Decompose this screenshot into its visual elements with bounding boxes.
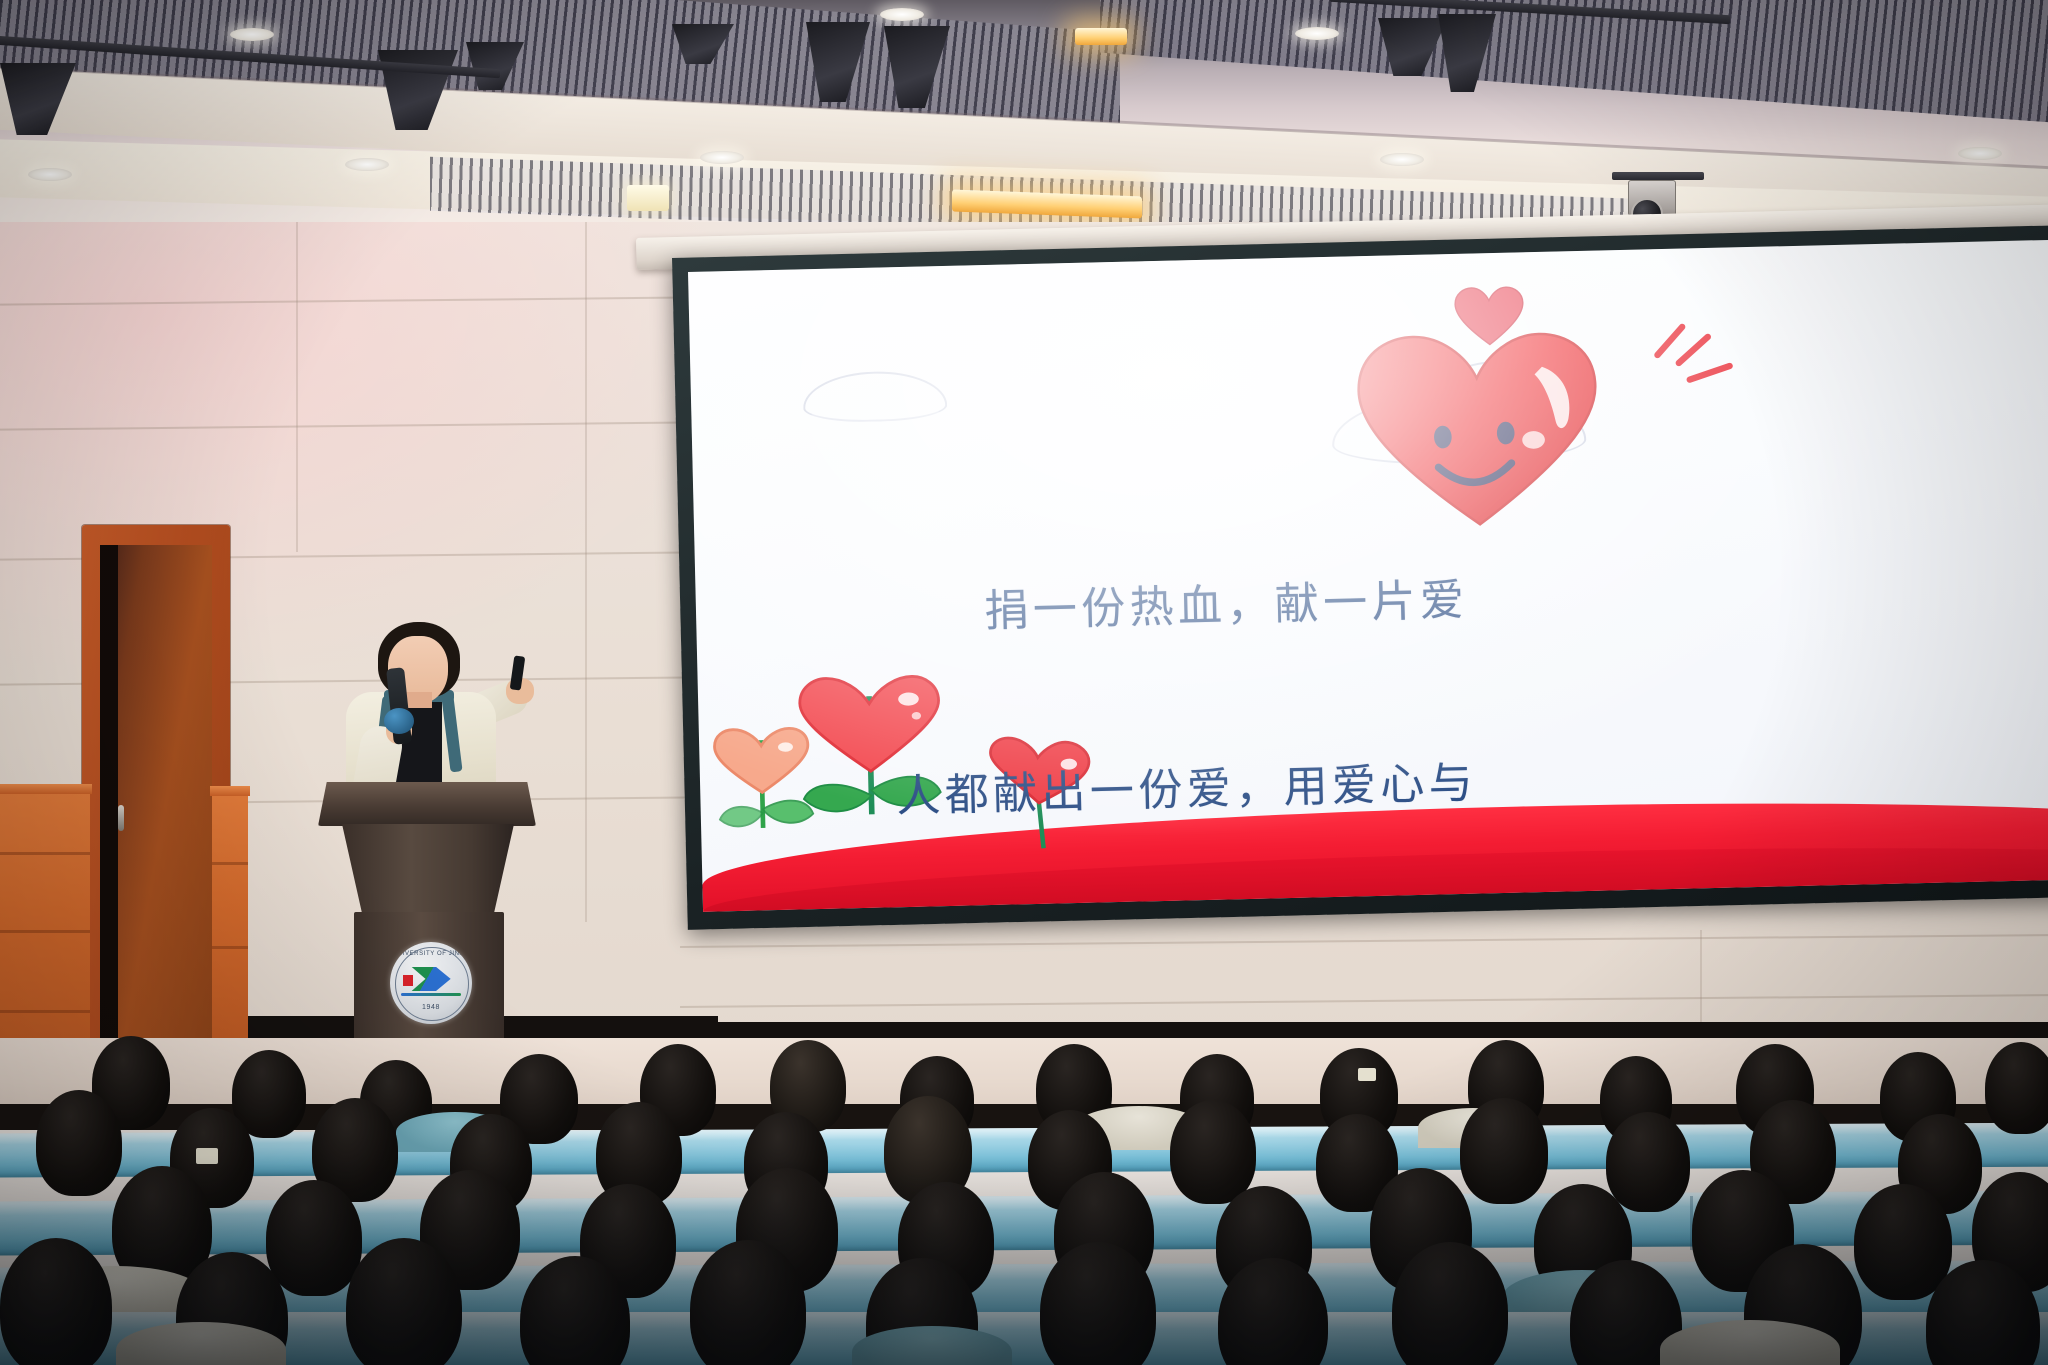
downlight-2 [345, 158, 389, 171]
podium-column [342, 824, 514, 916]
hair-clip [196, 1148, 218, 1164]
door-handle[interactable] [118, 805, 124, 831]
downlight-7 [880, 8, 924, 21]
audience-head [1460, 1098, 1548, 1204]
wall-vertical-seam-1 [585, 222, 587, 922]
audience-head [1985, 1042, 2048, 1134]
sparkle-lines-icon [1641, 319, 1739, 395]
downlight-5 [1958, 147, 2002, 160]
wainscot-groove-l3 [0, 1010, 90, 1013]
audience-head [266, 1180, 362, 1296]
audience-head [36, 1090, 122, 1196]
wainscot-groove-l1 [0, 852, 90, 855]
lectern-podium[interactable]: UNIVERSITY OF JINAN 1948 [318, 782, 548, 1052]
seal-year-text: 1948 [390, 1004, 472, 1011]
slide-line-2: 人都献出一份爱，用爱心与 [896, 758, 1478, 821]
slide-paragraph: 捐一份热血，献一片爱 人都献出一份爱，用爱心与 这个社会，世界将会更加美 更多新… [889, 449, 1509, 912]
downlight-6 [230, 28, 274, 41]
warm-lamp-3 [627, 185, 669, 211]
wainscot-groove-r2 [212, 946, 248, 949]
downlight-3 [700, 151, 744, 164]
downlight-4 [1380, 153, 1424, 166]
wainscot-cap-right [210, 786, 250, 796]
wall-vertical-seam-2 [296, 222, 298, 552]
seal-top-text: UNIVERSITY OF JINAN [390, 951, 472, 957]
audience-head [1392, 1242, 1508, 1365]
wainscot-groove-r1 [212, 862, 248, 865]
cloud-outline-icon-left [802, 370, 947, 423]
audience-head [346, 1238, 462, 1365]
audience-head [0, 1238, 112, 1365]
audience-area [0, 1020, 2048, 1365]
microphone-windscreen [384, 708, 414, 734]
podium-top-surface [318, 782, 536, 826]
wood-wainscot-right [212, 792, 248, 1040]
slide-line-1: 捐一份热血，献一片爱 [984, 576, 1469, 636]
downlight-8 [1295, 27, 1339, 40]
wainscot-groove-l2 [0, 930, 90, 933]
hair-clip [1358, 1068, 1376, 1081]
small-heart-icon [1453, 284, 1526, 350]
speaker-neck [404, 692, 432, 708]
projection-screen[interactable]: 捐一份热血，献一片爱 人都献出一份爱，用爱心与 这个社会，世界将会更加美 更多新… [688, 240, 2048, 912]
university-seal-icon: UNIVERSITY OF JINAN 1948 [390, 942, 472, 1024]
auditorium-photo: 捐一份热血，献一片爱 人都献出一份爱，用爱心与 这个社会，世界将会更加美 更多新… [0, 0, 2048, 1365]
warm-lamp-1 [1075, 28, 1127, 45]
wainscot-cap-left [0, 784, 92, 794]
audience-head [1606, 1112, 1690, 1212]
audience-head [1170, 1100, 1256, 1204]
audience-head [1854, 1184, 1952, 1300]
downlight-1 [28, 168, 72, 181]
door-gap-shadow [100, 545, 118, 1055]
